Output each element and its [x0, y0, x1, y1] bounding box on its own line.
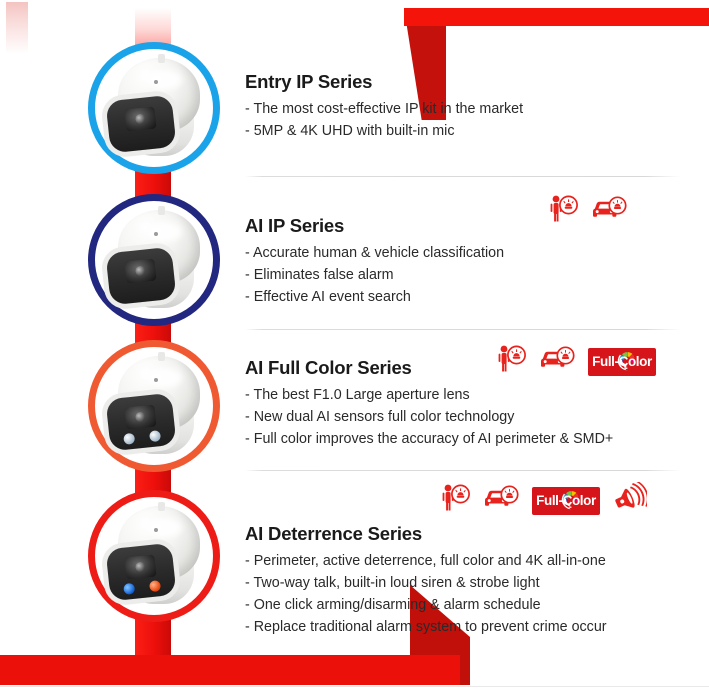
list-item: - 5MP & 4K UHD with built-in mic: [245, 121, 685, 143]
section-entry-ip: Entry IP Series - The most cost-effectiv…: [0, 36, 709, 184]
section-title: Entry IP Series: [245, 72, 685, 92]
turret-camera-deterrence: [102, 502, 206, 610]
feature-list: - Perimeter, active deterrence, full col…: [245, 551, 685, 638]
bottom-baseline: [0, 688, 709, 700]
list-item: - Effective AI event search: [245, 287, 685, 309]
section-divider: [245, 176, 680, 177]
list-item: - Full color improves the accuracy of AI…: [245, 429, 685, 451]
section-text-ai-ip: AI IP Series - Accurate human & vehicle …: [245, 216, 685, 309]
section-text-deterrence: AI Deterrence Series - Perimeter, active…: [245, 524, 685, 638]
full-color-badge: Full-Color: [532, 487, 600, 515]
camera-medallion-ai-ip: [88, 194, 220, 326]
camera-medallion-entry-ip: [88, 42, 220, 174]
turret-camera-full-color: [102, 352, 206, 460]
section-ai-ip: AI IP Series - Accurate human & vehicle …: [0, 186, 709, 332]
list-item: - Two-way talk, built-in loud siren & st…: [245, 573, 685, 595]
list-item: - The best F1.0 Large aperture lens: [245, 385, 685, 407]
feature-list: - The best F1.0 Large aperture lens - Ne…: [245, 385, 685, 450]
feature-list: - Accurate human & vehicle classificatio…: [245, 243, 685, 308]
infographic-canvas: Entry IP Series - The most cost-effectiv…: [0, 0, 709, 700]
section-text-full-color: AI Full Color Series - The best F1.0 Lar…: [245, 358, 685, 451]
camera-medallion-full-color: [88, 340, 220, 472]
list-item: - Perimeter, active deterrence, full col…: [245, 551, 685, 573]
list-item: - New dual AI sensors full color technol…: [245, 407, 685, 429]
human-detection-icon: [440, 483, 470, 518]
list-item: - One click arming/disarming & alarm sch…: [245, 595, 685, 617]
full-color-badge-label: Full-Color: [592, 354, 652, 369]
camera-medallion-deterrence: [88, 490, 220, 622]
section-title: AI IP Series: [245, 216, 685, 236]
bottom-hairline: [0, 686, 709, 687]
list-item: - Eliminates false alarm: [245, 265, 685, 287]
siren-speaker-icon: [613, 482, 647, 519]
section-title: AI Deterrence Series: [245, 524, 685, 544]
feature-list: - The most cost-effective IP kit in the …: [245, 99, 685, 142]
feature-icons-deterrence: Full-Color: [440, 482, 647, 519]
section-divider: [245, 470, 680, 471]
section-divider: [245, 329, 680, 330]
section-ai-deterrence: Full-Color: [0, 476, 709, 646]
list-item: - Accurate human & vehicle classificatio…: [245, 243, 685, 265]
ribbon-bottom-arm: [0, 655, 460, 685]
list-item: - Replace traditional alarm system to pr…: [245, 617, 685, 639]
section-ai-full-color: Full-Color AI Full Color Series - The be…: [0, 334, 709, 474]
turret-camera-ai: [102, 206, 206, 314]
turret-camera-entry: [102, 54, 206, 162]
section-text-entry-ip: Entry IP Series - The most cost-effectiv…: [245, 72, 685, 143]
ribbon-top-arm: [404, 8, 709, 26]
full-color-badge-label: Full-Color: [536, 493, 596, 508]
vehicle-detection-icon: [483, 484, 519, 517]
list-item: - The most cost-effective IP kit in the …: [245, 99, 685, 121]
